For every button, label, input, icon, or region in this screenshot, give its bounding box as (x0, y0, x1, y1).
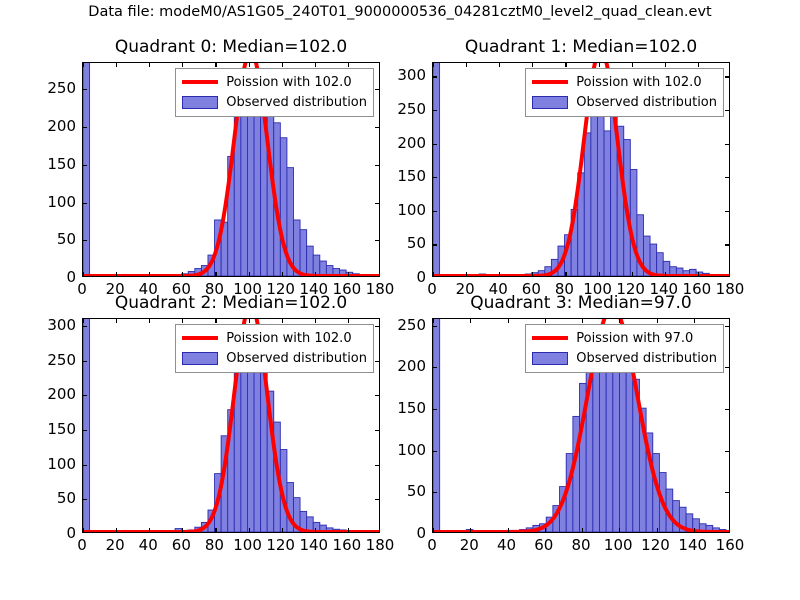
x-tick-mark (83, 319, 84, 323)
y-tick-mark (83, 499, 87, 500)
x-tick-mark (315, 528, 316, 532)
legend-item-observed: Observed distribution (182, 348, 367, 368)
x-tick-mark (694, 319, 695, 323)
y-tick-label: 150 (397, 399, 426, 417)
x-tick-mark (215, 272, 216, 276)
x-tick-mark (149, 272, 150, 276)
histogram-bar (630, 170, 637, 277)
y-tick-mark (83, 240, 87, 241)
x-tick-mark (632, 63, 633, 67)
x-tick-mark (499, 272, 500, 276)
legend: Poission with 102.0Observed distribution (175, 324, 374, 373)
legend-label-poisson: Poission with 102.0 (226, 331, 351, 346)
y-tick-label: 150 (397, 167, 426, 185)
legend-item-observed: Observed distribution (182, 92, 367, 112)
y-tick-mark (375, 326, 379, 327)
x-tick-label: 20 (106, 536, 125, 554)
y-tick-mark (725, 110, 729, 111)
y-tick-label: 50 (407, 482, 426, 500)
x-tick-mark (619, 319, 620, 323)
x-tick-mark (599, 272, 600, 276)
x-tick-mark (508, 528, 509, 532)
y-tick-mark (433, 177, 437, 178)
y-tick-label: 250 (47, 351, 76, 369)
x-tick-mark (348, 319, 349, 323)
x-tick-mark (466, 272, 467, 276)
x-tick-label: 20 (460, 536, 479, 554)
legend: Poission with 102.0Observed distribution (525, 68, 724, 117)
histogram-bar (433, 319, 440, 532)
legend-line-swatch (532, 336, 568, 340)
x-tick-mark (116, 272, 117, 276)
y-tick-mark (725, 211, 729, 212)
x-tick-label: 100 (604, 536, 633, 554)
histogram-bar (626, 354, 633, 532)
x-tick-mark (657, 319, 658, 323)
y-tick-mark (375, 361, 379, 362)
x-tick-label: 140 (678, 536, 707, 554)
y-tick-mark (725, 177, 729, 178)
y-tick-label: 0 (66, 524, 76, 542)
legend-line-swatch (532, 80, 568, 84)
x-tick-mark (116, 63, 117, 67)
y-tick-label: 300 (47, 316, 76, 334)
y-tick-mark (83, 326, 87, 327)
x-tick-mark (545, 528, 546, 532)
x-tick-mark (433, 528, 434, 532)
x-tick-label: 140 (299, 536, 328, 554)
legend-item-observed: Observed distribution (532, 92, 717, 112)
legend-item-poisson: Poission with 102.0 (182, 328, 367, 348)
y-tick-mark (725, 367, 729, 368)
x-tick-mark (182, 63, 183, 67)
x-tick-mark (665, 63, 666, 67)
histogram-bar (254, 97, 261, 276)
x-tick-label: 60 (172, 536, 191, 554)
histogram-bar (300, 230, 307, 276)
y-tick-label: 200 (47, 385, 76, 403)
y-tick-label: 0 (66, 268, 76, 286)
y-tick-mark (433, 367, 437, 368)
y-tick-mark (433, 110, 437, 111)
histogram-bar (320, 261, 327, 276)
x-tick-label: 60 (534, 536, 553, 554)
y-tick-label: 100 (397, 201, 426, 219)
y-tick-mark (375, 127, 379, 128)
legend-bar-swatch (532, 352, 568, 365)
x-tick-label: 160 (333, 536, 362, 554)
x-tick-mark (215, 528, 216, 532)
x-tick-mark (215, 319, 216, 323)
x-tick-mark (315, 272, 316, 276)
x-tick-mark (582, 528, 583, 532)
x-tick-mark (694, 528, 695, 532)
y-tick-mark (433, 326, 437, 327)
x-tick-label: 40 (139, 536, 158, 554)
x-tick-mark (582, 319, 583, 323)
subplot-title: Quadrant 0: Median=102.0 (82, 37, 380, 57)
x-tick-mark (698, 272, 699, 276)
y-tick-label: 250 (47, 79, 76, 97)
legend-label-poisson: Poission with 102.0 (226, 75, 351, 90)
y-tick-mark (433, 451, 437, 452)
y-tick-mark (375, 165, 379, 166)
figure-canvas: Data file: modeM0/AS1G05_240T01_90000005… (0, 0, 800, 600)
x-tick-mark (149, 528, 150, 532)
x-tick-mark (532, 272, 533, 276)
x-tick-mark (470, 319, 471, 323)
x-tick-mark (433, 63, 434, 67)
x-tick-mark (470, 528, 471, 532)
x-tick-label: 120 (266, 536, 295, 554)
legend-label-poisson: Poission with 102.0 (576, 75, 701, 90)
x-tick-mark (433, 272, 434, 276)
x-tick-label: 100 (233, 536, 262, 554)
y-tick-mark (83, 165, 87, 166)
histogram-bar (593, 346, 600, 532)
legend-line-swatch (182, 80, 218, 84)
legend-label-observed: Observed distribution (576, 95, 717, 110)
y-tick-mark (725, 492, 729, 493)
y-tick-mark (83, 127, 87, 128)
x-tick-mark (665, 272, 666, 276)
x-tick-mark (282, 528, 283, 532)
y-tick-mark (433, 492, 437, 493)
x-tick-label: 0 (427, 536, 437, 554)
x-tick-mark (499, 63, 500, 67)
x-tick-mark (532, 63, 533, 67)
legend-label-observed: Observed distribution (576, 351, 717, 366)
y-tick-mark (375, 395, 379, 396)
y-tick-mark (375, 89, 379, 90)
y-tick-mark (375, 203, 379, 204)
legend: Poission with 102.0Observed distribution (175, 68, 374, 117)
x-tick-mark (149, 63, 150, 67)
legend-label-poisson: Poission with 97.0 (576, 331, 693, 346)
x-tick-label: 180 (366, 536, 395, 554)
y-tick-label: 250 (397, 316, 426, 334)
x-tick-label: 0 (77, 536, 87, 554)
y-tick-mark (83, 89, 87, 90)
legend-label-observed: Observed distribution (226, 95, 367, 110)
y-tick-mark (725, 409, 729, 410)
x-tick-mark (83, 272, 84, 276)
y-tick-mark (433, 409, 437, 410)
y-tick-mark (725, 326, 729, 327)
legend-label-observed: Observed distribution (226, 351, 367, 366)
y-tick-mark (433, 211, 437, 212)
x-tick-mark (149, 319, 150, 323)
y-tick-label: 50 (57, 489, 76, 507)
subplot-quadrant-0: Quadrant 0: Median=102.00501001502002500… (82, 62, 380, 277)
y-tick-mark (375, 430, 379, 431)
y-tick-mark (725, 451, 729, 452)
subplot-quadrant-2: Quadrant 2: Median=102.00501001502002503… (82, 318, 380, 533)
x-tick-mark (545, 319, 546, 323)
y-tick-mark (433, 244, 437, 245)
histogram-bar (241, 100, 248, 276)
legend-item-poisson: Poission with 102.0 (532, 72, 717, 92)
x-tick-label: 120 (641, 536, 670, 554)
subplot-title: Quadrant 3: Median=97.0 (432, 293, 730, 313)
x-tick-mark (348, 63, 349, 67)
x-tick-mark (116, 528, 117, 532)
x-tick-mark (282, 319, 283, 323)
x-tick-mark (83, 63, 84, 67)
legend-line-swatch (182, 336, 218, 340)
x-tick-mark (565, 63, 566, 67)
legend: Poission with 97.0Observed distribution (525, 324, 724, 373)
legend-item-poisson: Poission with 102.0 (182, 72, 367, 92)
legend-item-observed: Observed distribution (532, 348, 717, 368)
y-tick-mark (375, 465, 379, 466)
x-tick-label: 80 (205, 536, 224, 554)
y-tick-label: 150 (47, 155, 76, 173)
subplot-title: Quadrant 2: Median=102.0 (82, 293, 380, 313)
x-tick-mark (508, 319, 509, 323)
y-tick-mark (725, 76, 729, 77)
y-tick-label: 100 (47, 193, 76, 211)
x-tick-mark (657, 528, 658, 532)
y-tick-label: 100 (397, 441, 426, 459)
y-tick-label: 0 (416, 268, 426, 286)
x-tick-label: 80 (571, 536, 590, 554)
y-tick-mark (83, 395, 87, 396)
y-tick-mark (725, 144, 729, 145)
y-tick-label: 0 (416, 524, 426, 542)
x-tick-mark (215, 63, 216, 67)
x-tick-mark (249, 63, 250, 67)
y-tick-label: 300 (397, 66, 426, 84)
x-tick-mark (433, 319, 434, 323)
y-tick-mark (375, 499, 379, 500)
y-tick-label: 200 (47, 117, 76, 135)
legend-bar-swatch (182, 96, 218, 109)
histogram-bar (83, 63, 90, 276)
x-tick-mark (249, 528, 250, 532)
x-tick-mark (116, 319, 117, 323)
y-tick-mark (725, 244, 729, 245)
histogram-bar (584, 133, 591, 276)
y-tick-label: 50 (407, 234, 426, 252)
legend-bar-swatch (532, 96, 568, 109)
x-tick-mark (282, 272, 283, 276)
subplot-title: Quadrant 1: Median=102.0 (432, 37, 730, 57)
subplot-quadrant-3: Quadrant 3: Median=97.005010015020025002… (432, 318, 730, 533)
y-tick-mark (83, 465, 87, 466)
y-tick-label: 100 (47, 455, 76, 473)
figure-suptitle: Data file: modeM0/AS1G05_240T01_90000005… (0, 4, 800, 20)
y-tick-label: 200 (397, 134, 426, 152)
x-tick-mark (249, 319, 250, 323)
histogram-bar (604, 131, 611, 276)
x-tick-mark (565, 272, 566, 276)
y-tick-label: 50 (57, 230, 76, 248)
histogram-bar (657, 253, 664, 276)
x-tick-mark (315, 319, 316, 323)
x-tick-mark (182, 272, 183, 276)
x-tick-mark (182, 319, 183, 323)
x-tick-mark (348, 272, 349, 276)
x-tick-mark (83, 528, 84, 532)
legend-bar-swatch (182, 352, 218, 365)
x-tick-mark (698, 63, 699, 67)
subplot-quadrant-1: Quadrant 1: Median=102.00501001502002503… (432, 62, 730, 277)
x-tick-mark (182, 528, 183, 532)
x-tick-mark (619, 528, 620, 532)
y-tick-label: 150 (47, 420, 76, 438)
legend-item-poisson: Poission with 97.0 (532, 328, 717, 348)
y-tick-mark (83, 203, 87, 204)
histogram-bar (591, 113, 598, 276)
x-tick-mark (315, 63, 316, 67)
x-tick-label: 160 (716, 536, 745, 554)
x-tick-mark (249, 272, 250, 276)
y-tick-mark (433, 144, 437, 145)
y-tick-mark (375, 240, 379, 241)
y-tick-mark (83, 430, 87, 431)
x-tick-mark (599, 63, 600, 67)
x-tick-mark (632, 272, 633, 276)
x-tick-mark (348, 528, 349, 532)
x-tick-mark (282, 63, 283, 67)
y-tick-label: 200 (397, 357, 426, 375)
y-tick-label: 250 (397, 100, 426, 118)
histogram-bar (650, 244, 657, 276)
x-tick-label: 40 (497, 536, 516, 554)
y-tick-mark (433, 76, 437, 77)
y-tick-mark (83, 361, 87, 362)
histogram-bar (307, 246, 314, 276)
x-tick-mark (466, 63, 467, 67)
